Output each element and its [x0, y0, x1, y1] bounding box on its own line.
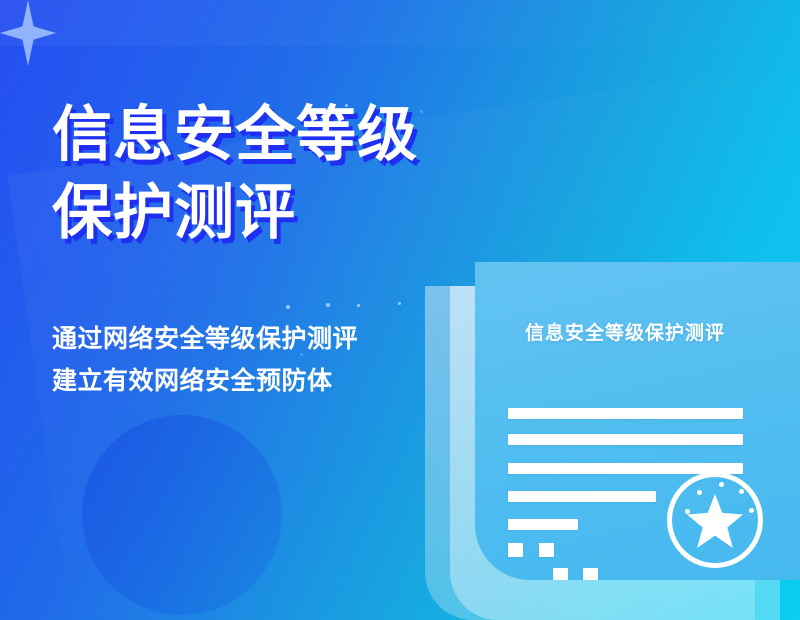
subtitle-line-1: 通过网络安全等级保护测评	[52, 318, 358, 360]
certificate-content-square	[508, 543, 523, 557]
top-light-band	[0, 0, 800, 46]
badge-dot	[685, 509, 690, 514]
decorative-dot	[286, 305, 290, 309]
decorative-dot	[357, 304, 360, 307]
certificate-card-stack: 信息安全等级保护测评	[420, 255, 800, 620]
headline-line-1: 信息安全等级	[52, 96, 572, 174]
decorative-dot	[326, 303, 330, 307]
headline: 信息安全等级 保护测评	[52, 96, 572, 252]
decorative-dot	[398, 302, 401, 305]
badge-dot	[719, 482, 724, 487]
certificate-content-bar	[508, 519, 578, 530]
badge-dot	[739, 489, 744, 494]
certificate-card-title: 信息安全等级保护测评	[475, 318, 775, 345]
certificate-content-bar	[508, 434, 743, 445]
large-accent-circle	[82, 415, 282, 615]
certificate-card-front: 信息安全等级保护测评	[475, 262, 800, 580]
certificate-content-square	[553, 568, 568, 580]
certificate-content-square	[583, 568, 598, 580]
badge-dot	[749, 508, 754, 513]
four-point-sparkle-icon	[0, 0, 56, 66]
star-badge-icon	[667, 472, 763, 568]
certificate-content-bar	[508, 408, 743, 419]
badge-dot	[697, 490, 702, 495]
promo-banner: 信息安全等级 保护测评 通过网络安全等级保护测评 建立有效网络安全预防体 信息安…	[0, 0, 800, 620]
certificate-content-square	[539, 543, 554, 557]
subtitle-line-2: 建立有效网络安全预防体	[52, 360, 358, 402]
subtitle: 通过网络安全等级保护测评 建立有效网络安全预防体	[52, 318, 358, 402]
headline-line-2: 保护测评	[52, 174, 572, 252]
certificate-content-bar	[508, 491, 656, 502]
